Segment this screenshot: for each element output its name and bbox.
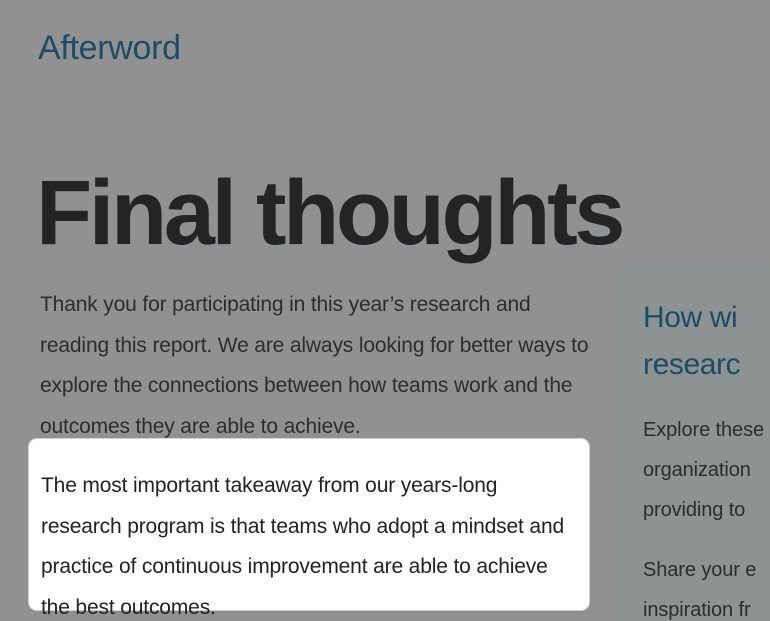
side-panel-paragraph-1-line-2: organization xyxy=(643,450,770,490)
side-panel-title-line-2: researc xyxy=(643,341,770,388)
side-panel-paragraph-2-line-2: inspiration fr xyxy=(643,590,770,621)
side-panel-paragraph-2-line-1: Share your e xyxy=(643,550,770,590)
side-panel: How wi researc Explore these organizatio… xyxy=(618,268,770,621)
side-panel-paragraph-1-line-3: providing to xyxy=(643,490,770,530)
side-panel-title-line-1: How wi xyxy=(643,294,770,341)
section-eyebrow: Afterword xyxy=(38,26,181,70)
side-panel-paragraph-1-line-1: Explore these xyxy=(643,410,770,450)
main-content-column: Afterword Final thoughts Thank you for p… xyxy=(0,0,618,621)
page-root: Afterword Final thoughts Thank you for p… xyxy=(0,0,770,621)
takeaway-callout-card: The most important takeaway from our yea… xyxy=(28,438,590,611)
takeaway-callout-text: The most important takeaway from our yea… xyxy=(41,466,579,621)
intro-paragraph: Thank you for participating in this year… xyxy=(40,285,592,447)
page-title: Final thoughts xyxy=(36,163,622,263)
